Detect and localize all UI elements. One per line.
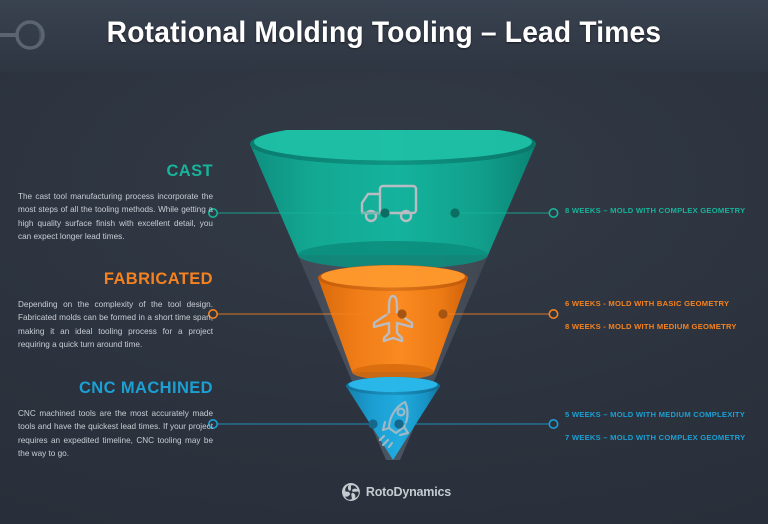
funnel-diagram <box>228 130 558 470</box>
funnel-segment-cnc[interactable] <box>346 377 440 460</box>
stage-body-fabricated: Depending on the complexity of the tool … <box>18 298 213 351</box>
brand-name: RotoDynamics <box>366 485 451 499</box>
lead-times-cast: 8 WEEKS – MOLD WITH COMPLEX GEOMETRY <box>565 207 765 215</box>
stage-description-cast: CAST The cast tool manufacturing process… <box>18 162 213 243</box>
stage-heading-cast: CAST <box>18 162 213 181</box>
spiral-aperture-logo-icon <box>341 482 361 502</box>
lead-times-cnc: 5 WEEKS – MOLD WITH MEDIUM COMPLEXITY 7 … <box>565 411 765 443</box>
ring-ornament-icon <box>0 14 60 56</box>
lead-times-fabricated: 6 WEEKS - MOLD WITH BASIC GEOMETRY 8 WEE… <box>565 300 765 332</box>
funnel-segment-fabricated[interactable] <box>318 265 468 380</box>
funnel-segment-cast[interactable] <box>250 130 536 269</box>
page-title: Rotational Molding Tooling – Lead Times <box>23 16 745 50</box>
stage-description-cnc: CNC MACHINED CNC machined tools are the … <box>18 379 213 460</box>
header-band: Rotational Molding Tooling – Lead Times <box>0 0 768 72</box>
stage-description-fabricated: FABRICATED Depending on the complexity o… <box>18 270 213 351</box>
infographic-canvas: Rotational Molding Tooling – Lead Times <box>0 0 768 524</box>
lead-time-item: 8 WEEKS – MOLD WITH COMPLEX GEOMETRY <box>565 207 765 215</box>
stage-heading-fabricated: FABRICATED <box>18 270 213 289</box>
lead-time-item: 6 WEEKS - MOLD WITH BASIC GEOMETRY <box>565 300 765 308</box>
brand-logo: RotoDynamics <box>341 479 451 505</box>
stage-heading-cnc: CNC MACHINED <box>18 379 213 398</box>
stage-body-cnc: CNC machined tools are the most accurate… <box>18 407 213 460</box>
lead-time-item: 5 WEEKS – MOLD WITH MEDIUM COMPLEXITY <box>565 411 765 419</box>
lead-time-item: 7 WEEKS – MOLD WITH COMPLEX GEOMETRY <box>565 434 765 442</box>
lead-time-item: 8 WEEKS - MOLD WITH MEDIUM GEOMETRY <box>565 323 765 331</box>
stage-body-cast: The cast tool manufacturing process inco… <box>18 190 213 243</box>
